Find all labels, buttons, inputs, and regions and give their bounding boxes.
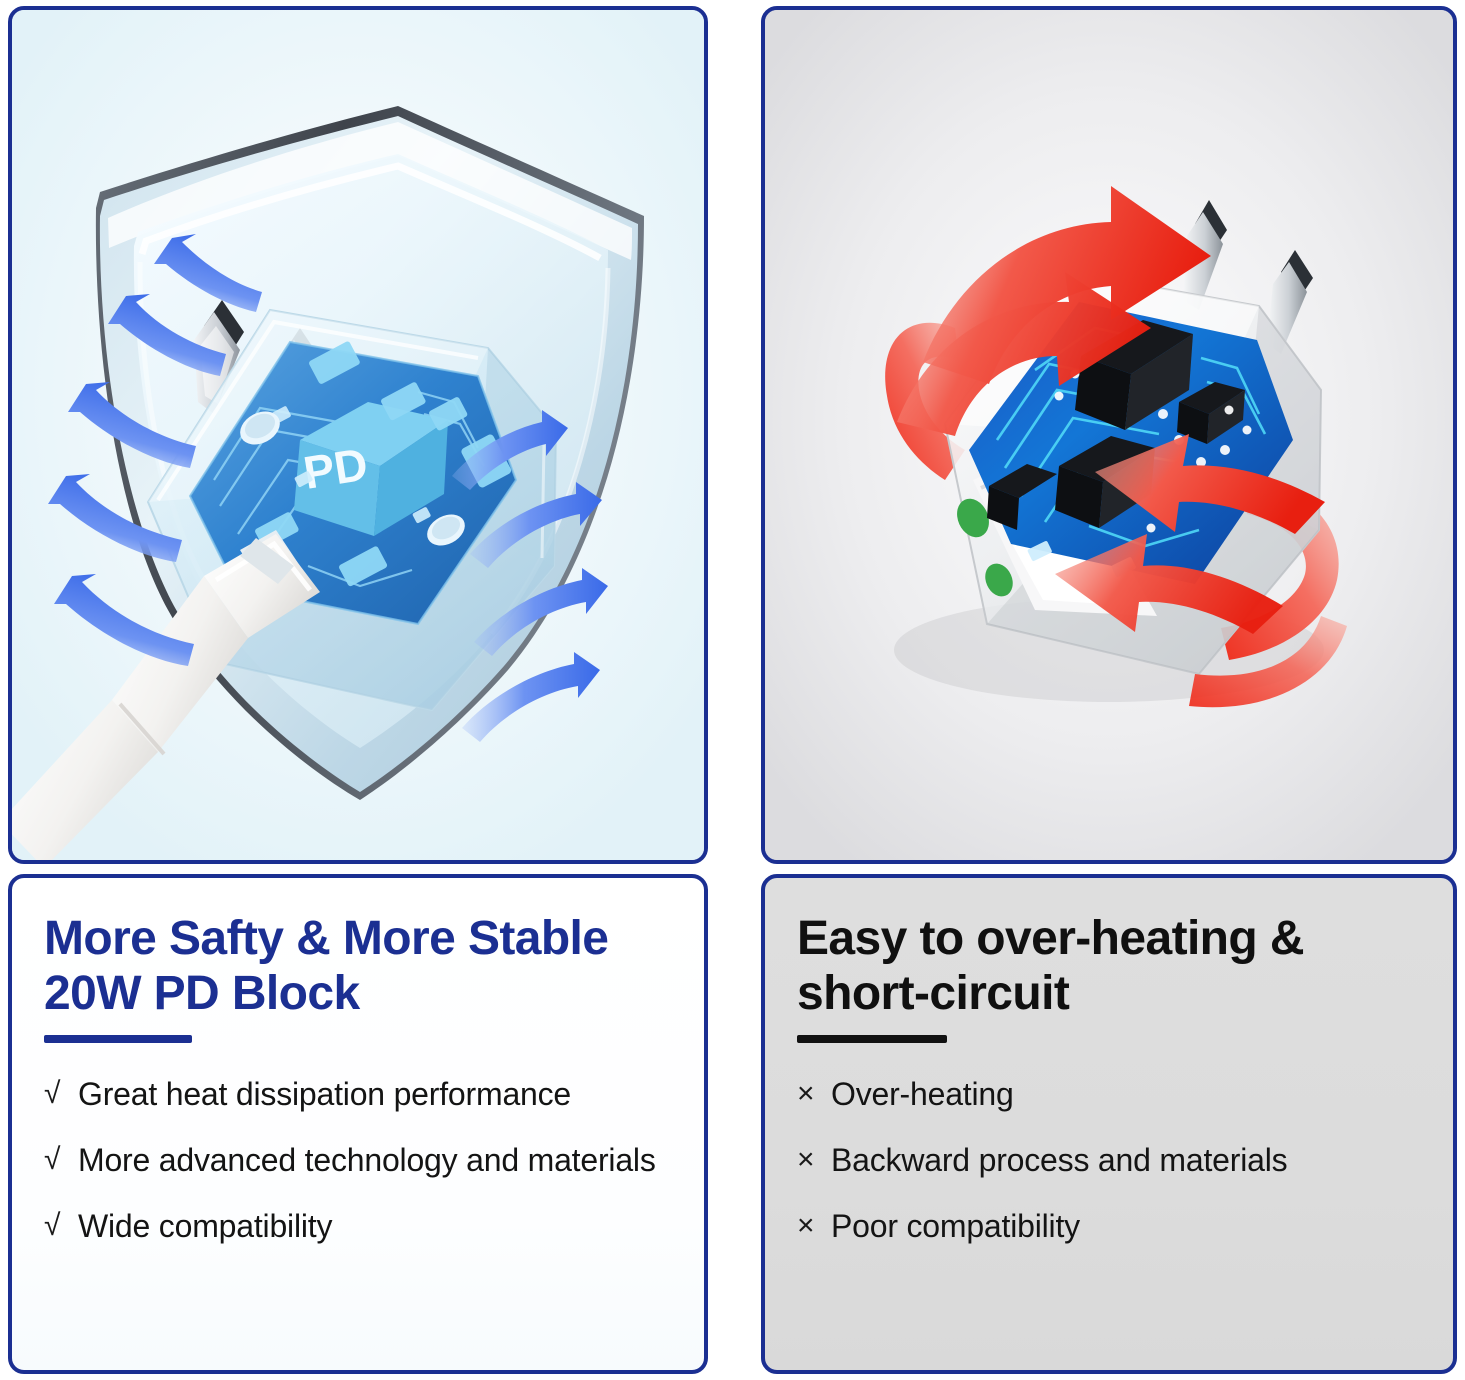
list-item-label: Wide compatibility <box>78 1209 332 1245</box>
left-bullet-list: √ Great heat dissipation performance √ M… <box>44 1077 680 1244</box>
list-item: × Poor compatibility <box>797 1209 1429 1245</box>
list-item: √ More advanced technology and materials <box>44 1143 680 1179</box>
right-bullet-list: × Over-heating × Backward process and ma… <box>797 1077 1429 1244</box>
list-item-label: More advanced technology and materials <box>78 1143 656 1179</box>
check-icon: √ <box>44 1143 78 1176</box>
left-column: PD <box>0 0 716 1380</box>
list-item-label: Over-heating <box>831 1077 1014 1113</box>
list-item-label: Great heat dissipation performance <box>78 1077 571 1113</box>
right-headline-underline <box>797 1035 947 1043</box>
cross-icon: × <box>797 1209 831 1242</box>
comparison-infographic: PD <box>0 0 1465 1380</box>
left-headline-underline <box>44 1035 192 1043</box>
list-item: √ Wide compatibility <box>44 1209 680 1245</box>
check-icon: √ <box>44 1077 78 1110</box>
list-item: √ Great heat dissipation performance <box>44 1077 680 1113</box>
pd-chip-label: PD <box>300 438 371 499</box>
left-text-panel: More Safty & More Stable 20W PD Block √ … <box>8 874 708 1374</box>
right-column: Easy to over-heating & short-circuit × O… <box>753 0 1465 1380</box>
cross-icon: × <box>797 1077 831 1110</box>
list-item: × Over-heating <box>797 1077 1429 1113</box>
overheating-charger-illustration <box>765 10 1453 860</box>
cross-icon: × <box>797 1143 831 1176</box>
right-text-panel: Easy to over-heating & short-circuit × O… <box>761 874 1457 1374</box>
shield-charger-illustration: PD <box>12 10 704 860</box>
right-media-panel <box>761 6 1457 864</box>
check-icon: √ <box>44 1209 78 1242</box>
list-item-label: Backward process and materials <box>831 1143 1287 1179</box>
list-item: × Backward process and materials <box>797 1143 1429 1179</box>
right-headline: Easy to over-heating & short-circuit <box>797 912 1429 1021</box>
left-headline: More Safty & More Stable 20W PD Block <box>44 912 680 1021</box>
left-media-panel: PD <box>8 6 708 864</box>
list-item-label: Poor compatibility <box>831 1209 1080 1245</box>
